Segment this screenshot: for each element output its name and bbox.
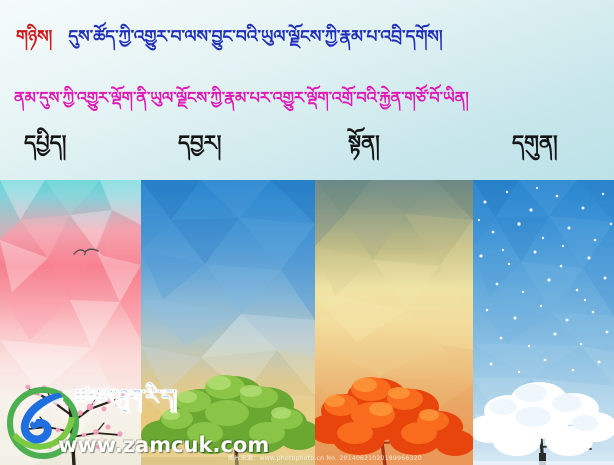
season-panel-autumn <box>315 180 473 465</box>
question-prompt-text: དུས་ཚོད་ཀྱི་འགྱུར་བ་ལས་བྱུང་བའི་ཡུལ་ལྗོང… <box>68 27 442 47</box>
flying-bird-icon <box>73 243 99 255</box>
season-label-autumn: སྟོན། <box>348 126 380 160</box>
summer-green-tree <box>141 335 315 465</box>
header-text-area: གཉིས།དུས་ཚོད་ཀྱི་འགྱུར་བ་ལས་བྱུང་བའི་ཡུལ… <box>0 0 614 180</box>
season-label-summer: དབྱར། <box>178 126 221 160</box>
season-panel-winter <box>473 180 614 465</box>
question-number-label: གཉིས། <box>16 27 52 47</box>
spring-cherry-blossom-tree <box>0 335 141 465</box>
heading-line-1: གཉིས།དུས་ཚོད་ཀྱི་འགྱུར་བ་ལས་བྱུང་བའི་ཡུལ… <box>0 20 614 54</box>
season-label-winter: དགུན། <box>512 126 558 160</box>
winter-snow-covered-tree <box>473 335 614 465</box>
season-label-spring: དཔྱིད། <box>24 126 66 160</box>
season-label-row: དཔྱིད། དབྱར། སྟོན། དགུན། <box>0 126 614 172</box>
autumn-maple-tree <box>315 335 473 465</box>
slide-canvas: གཉིས།དུས་ཚོད་ཀྱི་འགྱུར་བ་ལས་བྱུང་བའི་ཡུལ… <box>0 0 614 465</box>
heading-line-2: ནམ་དུས་ཀྱི་འགྱུར་ལྡོག་ནི་ཡུལ་ལྗོངས་ཀྱི་ར… <box>0 82 614 114</box>
four-seasons-illustration: ཚམས་ཤུག་རི་ད། www.zamcuk.com 图片来源：www.ph… <box>0 180 614 465</box>
season-panel-summer <box>141 180 315 465</box>
season-panel-spring <box>0 180 141 465</box>
